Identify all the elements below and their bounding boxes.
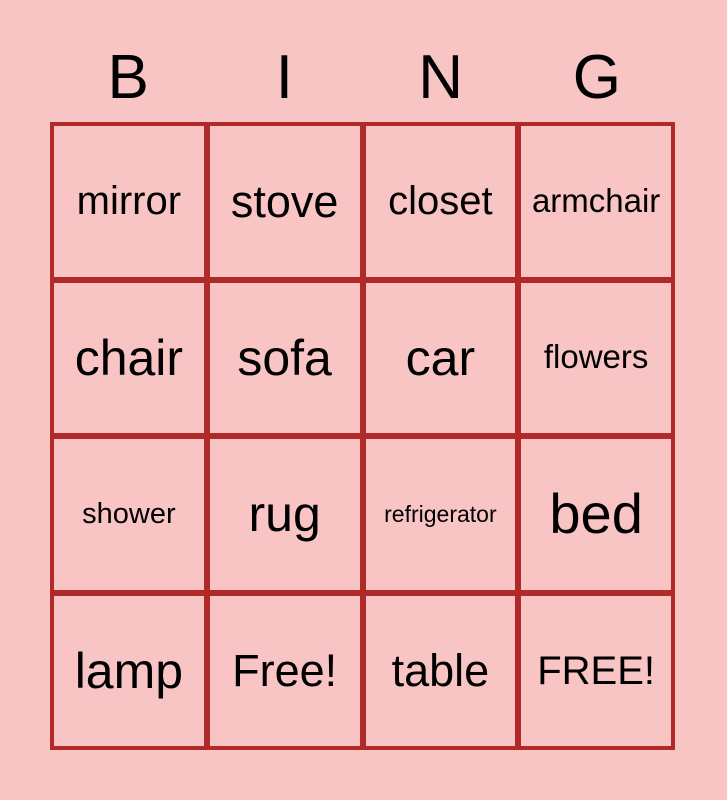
header-letter-g: G [519,34,675,122]
bingo-cell-label: flowers [544,340,649,375]
bingo-cell[interactable]: mirror [54,126,204,277]
bingo-cell-label: sofa [237,332,332,385]
bingo-header-row: B I N G [50,34,675,122]
bingo-cell-label: shower [82,499,176,529]
bingo-cell[interactable]: stove [210,126,360,277]
bingo-cell-label: table [392,647,490,694]
bingo-cell[interactable]: bed [521,439,671,590]
bingo-cell[interactable]: table [366,596,516,747]
bingo-cell-label: bed [549,485,642,544]
bingo-cell[interactable]: refrigerator [366,439,516,590]
bingo-cell-label: armchair [532,184,660,219]
bingo-cell[interactable]: armchair [521,126,671,277]
bingo-cell-label: Free! [232,647,337,694]
bingo-cell-label: chair [75,332,183,385]
bingo-cell-label: mirror [77,180,181,222]
header-letter-n: N [363,34,519,122]
bingo-cell[interactable]: rug [210,439,360,590]
bingo-cell-label: FREE! [537,650,655,692]
header-letter-b: B [50,34,206,122]
bingo-cell[interactable]: sofa [210,283,360,434]
bingo-cell[interactable]: lamp [54,596,204,747]
bingo-cell[interactable]: chair [54,283,204,434]
bingo-cell-free[interactable]: Free! [210,596,360,747]
bingo-card: B I N G mirror stove closet armchair cha… [0,0,727,800]
bingo-cell-label: lamp [75,645,183,698]
bingo-cell-label: car [406,332,475,385]
bingo-cell[interactable]: closet [366,126,516,277]
header-letter-i: I [206,34,362,122]
bingo-grid: mirror stove closet armchair chair sofa … [50,122,675,750]
bingo-cell-label: closet [388,180,493,222]
bingo-cell[interactable]: shower [54,439,204,590]
bingo-cell-label: refrigerator [384,502,496,526]
bingo-cell-label: rug [248,488,320,541]
bingo-cell-free[interactable]: FREE! [521,596,671,747]
bingo-cell[interactable]: flowers [521,283,671,434]
bingo-cell-label: stove [231,178,339,225]
bingo-cell[interactable]: car [366,283,516,434]
